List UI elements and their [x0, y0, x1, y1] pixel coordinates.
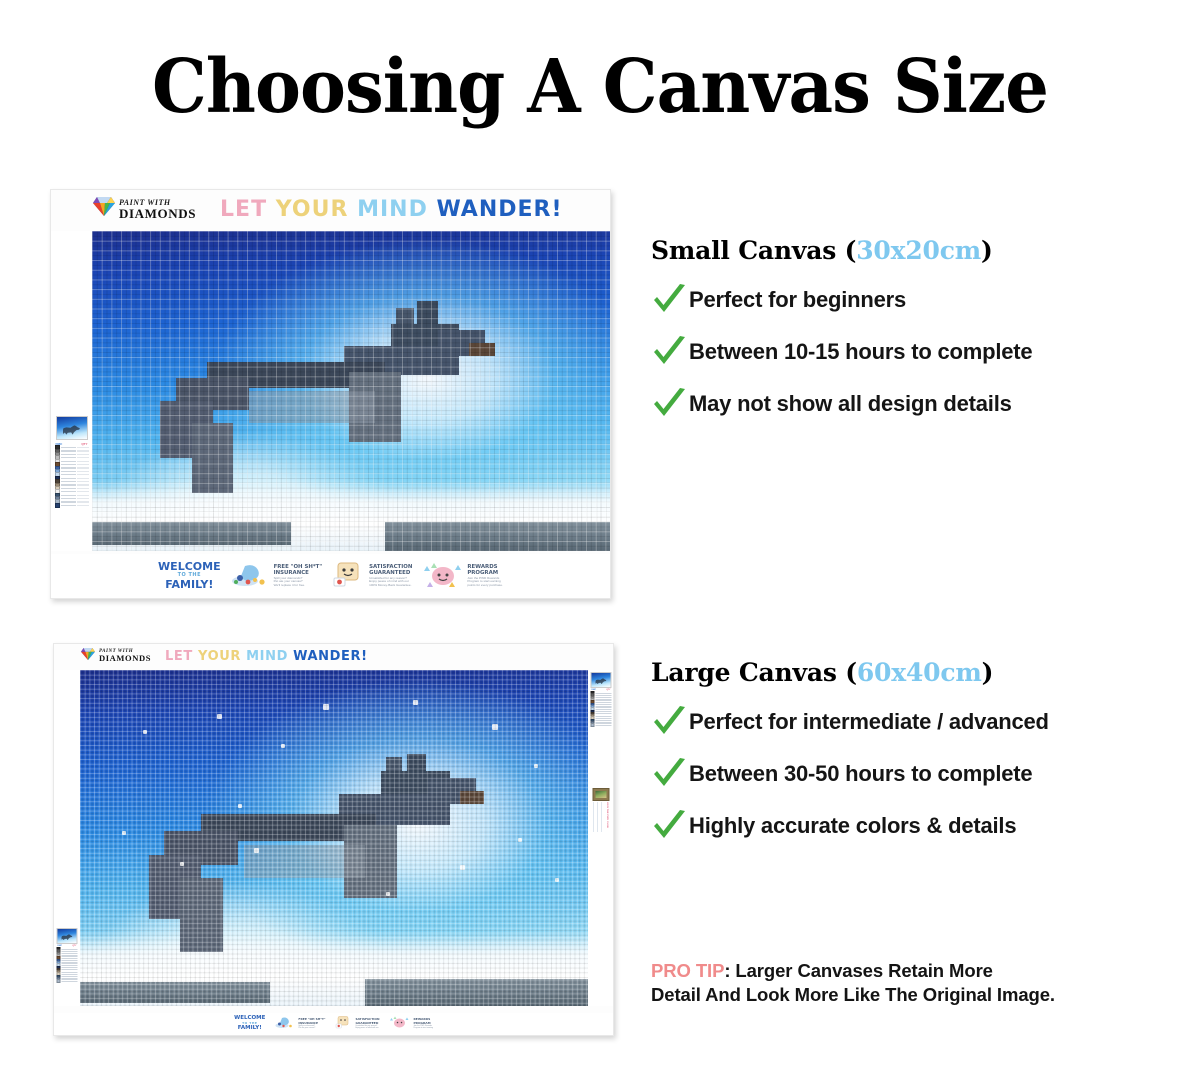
- artwork-wolf: [80, 670, 608, 1006]
- small-canvas-info: Small Canvas (30x20cm) Perfect for begin…: [651, 236, 1171, 439]
- large-feature-2-label: Between 30-50 hours to complete: [689, 761, 1032, 787]
- welcome-block-large: WELCOME TO THE FAMILY!: [234, 1016, 265, 1031]
- snowflake: [460, 865, 465, 870]
- snowflake: [555, 878, 559, 882]
- badge-sub-line3: points for every purchase.: [467, 584, 503, 588]
- badge-insurance-text: FREE "OH SH*T" INSURANCE Spill your diam…: [298, 1018, 325, 1029]
- snowflake: [534, 764, 538, 768]
- badge-guarantee-text: SATISFACTION GUARANTEED Unsatisfied for …: [369, 564, 412, 588]
- badge-sub-line2: Pet ate your canvas?: [298, 1027, 325, 1029]
- brand-logo-small: PAINT WITH DIAMONDS: [93, 197, 196, 221]
- large-heading-dimensions: 60x40cm: [857, 658, 982, 687]
- diamond-icon: [93, 197, 115, 221]
- badge-sub-line3: We'll replace it for free.: [274, 584, 323, 588]
- legend-row: [57, 980, 78, 982]
- brand-logo-text-large: PAINT WITH DIAMONDS: [99, 649, 151, 663]
- small-feature-1-label: Perfect for beginners: [689, 287, 906, 313]
- welcome-line3: FAMILY!: [158, 579, 221, 591]
- pro-tip-line1: Larger Canvases Retain More: [735, 960, 992, 981]
- badge-insurance-small: FREE "OH SH*T" INSURANCE Spill your diam…: [231, 560, 323, 593]
- tagline-word-mind: MIND: [246, 649, 288, 664]
- page-title: Choosing A Canvas Size: [42, 44, 1158, 130]
- large-feature-3-label: Highly accurate colors & details: [689, 813, 1016, 839]
- legend-row: [55, 504, 89, 507]
- canvas-artwork-small: [92, 231, 611, 551]
- large-heading-close: ): [982, 658, 994, 687]
- small-feature-2-label: Between 10-15 hours to complete: [689, 339, 1032, 365]
- check-icon: [651, 757, 689, 791]
- large-feature-2: Between 30-50 hours to complete: [651, 757, 1171, 791]
- check-icon: [651, 809, 689, 843]
- brand-logo-line2: DIAMONDS: [119, 207, 196, 220]
- small-heading-close: ): [981, 236, 993, 265]
- badge-rewards-small: REWARDS PROGRAM Join the PWD Rewards Pro…: [422, 560, 503, 593]
- large-feature-1: Perfect for intermediate / advanced: [651, 705, 1171, 739]
- small-feature-2: Between 10-15 hours to complete: [651, 335, 1171, 369]
- badge-sub-line2: Enjoy peace of mind with our: [355, 1027, 379, 1029]
- tagline-word-wander: WANDER!: [293, 649, 368, 664]
- canvas-footer-large: WELCOME TO THE FAMILY! FREE "OH SH*T" IN…: [54, 1013, 613, 1035]
- badge-guarantee-text: SATISFACTION GUARANTEED Unsatisfied for …: [355, 1018, 379, 1029]
- brand-tagline-small: LET YOUR MIND WANDER!: [220, 197, 562, 222]
- snowflake: [180, 862, 184, 866]
- snowflake: [492, 724, 498, 730]
- color-legend-table-left-large: DMC QTY: [57, 944, 78, 982]
- small-heading-main: Small Canvas (: [651, 236, 856, 265]
- tagline-word-let: LET: [165, 649, 193, 664]
- small-feature-1: Perfect for beginners: [651, 283, 1171, 317]
- canvas-artwork-large: [80, 670, 608, 1006]
- rail-divider: [593, 802, 594, 832]
- badge-insurance-large: FREE "OH SH*T" INSURANCE Spill your diam…: [275, 1015, 325, 1034]
- pro-tip-separator: :: [724, 960, 735, 981]
- thumbnail-wolf-silhouette: [63, 425, 80, 434]
- badge-guarantee-small: SATISFACTION GUARANTEED Unsatisfied for …: [332, 560, 412, 593]
- canvas-header-large: PAINT WITH DIAMONDS LET YOUR MIND WANDER…: [54, 644, 613, 668]
- badge-insurance-text: FREE "OH SH*T" INSURANCE Spill your diam…: [274, 564, 323, 588]
- snowflake: [323, 704, 329, 710]
- thumbnail-wolf-silhouette: [61, 934, 72, 940]
- small-canvas-mockup: PAINT WITH DIAMONDS LET YOUR MIND WANDER…: [50, 189, 611, 599]
- framed-picture-icon: [593, 788, 610, 801]
- badge-rewards-text: REWARDS PROGRAM Join the PWD Rewards Pro…: [413, 1018, 432, 1029]
- snowflake: [254, 848, 259, 853]
- snowflake: [518, 838, 522, 842]
- tagline-word-your: YOUR: [198, 649, 241, 664]
- artwork-wolf: [92, 231, 611, 551]
- rewards-gem-icon: [389, 1015, 410, 1034]
- check-icon: [651, 335, 689, 369]
- welcome-line3: FAMILY!: [234, 1026, 265, 1032]
- snowflake: [386, 892, 390, 896]
- guarantee-seal-icon: [335, 1015, 352, 1034]
- brand-tagline-large: LET YOUR MIND WANDER!: [165, 649, 368, 664]
- pro-tip-label: PRO TIP: [651, 960, 724, 981]
- badge-sub-line3: 100% Money-Back Guarantee.: [369, 584, 412, 588]
- pro-tip: PRO TIP: Larger Canvases Retain More Det…: [651, 959, 1171, 1008]
- brand-logo-large: PAINT WITH DIAMONDS: [81, 647, 151, 665]
- small-heading-dimensions: 30x20cm: [856, 236, 981, 265]
- large-canvas-info: Large Canvas (60x40cm) Perfect for inter…: [651, 658, 1171, 861]
- legend-rail-right-large: DMC QTY JOIN THE PWD CLUB: [588, 670, 614, 1006]
- tagline-word-your: YOUR: [276, 197, 349, 222]
- legend-row: [591, 724, 612, 726]
- large-feature-1-label: Perfect for intermediate / advanced: [689, 709, 1049, 735]
- diamond-icon: [81, 647, 95, 665]
- guarantee-seal-icon: [332, 560, 366, 593]
- rail-divider: [597, 802, 598, 832]
- snowflake: [122, 831, 126, 835]
- legend-rail-left-large: DMC QTY: [54, 670, 80, 1006]
- thumbnail-wolf-silhouette: [595, 678, 606, 684]
- badge-sub-line2: Program to start earning: [413, 1027, 432, 1029]
- check-icon: [651, 705, 689, 739]
- small-feature-3-label: May not show all design details: [689, 391, 1012, 417]
- rail-vertical-note: JOIN THE PWD CLUB: [606, 802, 608, 828]
- rewards-gem-icon: [422, 560, 464, 593]
- tagline-word-wander: WANDER!: [437, 197, 563, 222]
- large-heading-main: Large Canvas (: [651, 658, 857, 687]
- legend-rail-left-small: DMC QTY: [51, 231, 92, 551]
- tagline-word-mind: MIND: [357, 197, 428, 222]
- snowflake: [281, 744, 285, 748]
- pro-tip-line2: Detail And Look More Like The Original I…: [651, 984, 1055, 1005]
- canvas-thumbnail-left-small: [56, 416, 88, 440]
- welcome-block-small: WELCOME TO THE FAMILY!: [158, 561, 221, 590]
- canvas-thumbnail-right-large: [591, 672, 612, 688]
- badge-guarantee-large: SATISFACTION GUARANTEED Unsatisfied for …: [335, 1015, 379, 1034]
- brand-logo-line2: DIAMONDS: [99, 654, 151, 663]
- color-legend-table-left-small: DMC QTY: [55, 442, 89, 507]
- large-canvas-heading: Large Canvas (60x40cm): [651, 658, 1171, 687]
- canvas-header-small: PAINT WITH DIAMONDS LET YOUR MIND WANDER…: [51, 190, 610, 228]
- snowflake: [217, 714, 222, 719]
- small-canvas-heading: Small Canvas (30x20cm): [651, 236, 1171, 265]
- spilled-paint-icon: [275, 1015, 295, 1034]
- tagline-word-let: LET: [220, 197, 267, 222]
- brand-logo-text-small: PAINT WITH DIAMONDS: [119, 199, 196, 220]
- check-icon: [651, 283, 689, 317]
- badge-rewards-text: REWARDS PROGRAM Join the PWD Rewards Pro…: [467, 564, 503, 588]
- spilled-paint-icon: [231, 560, 271, 593]
- canvas-thumbnail-left-large: [57, 928, 78, 944]
- color-legend-table-right-large: DMC QTY: [591, 688, 612, 726]
- rail-divider: [601, 802, 602, 832]
- large-canvas-mockup: PAINT WITH DIAMONDS LET YOUR MIND WANDER…: [53, 643, 614, 1036]
- small-feature-3: May not show all design details: [651, 387, 1171, 421]
- canvas-footer-small: WELCOME TO THE FAMILY! FREE "OH SH*T" IN…: [51, 554, 610, 598]
- large-feature-3: Highly accurate colors & details: [651, 809, 1171, 843]
- check-icon: [651, 387, 689, 421]
- snowflake: [413, 700, 418, 705]
- badge-rewards-large: REWARDS PROGRAM Join the PWD Rewards Pro…: [389, 1015, 432, 1034]
